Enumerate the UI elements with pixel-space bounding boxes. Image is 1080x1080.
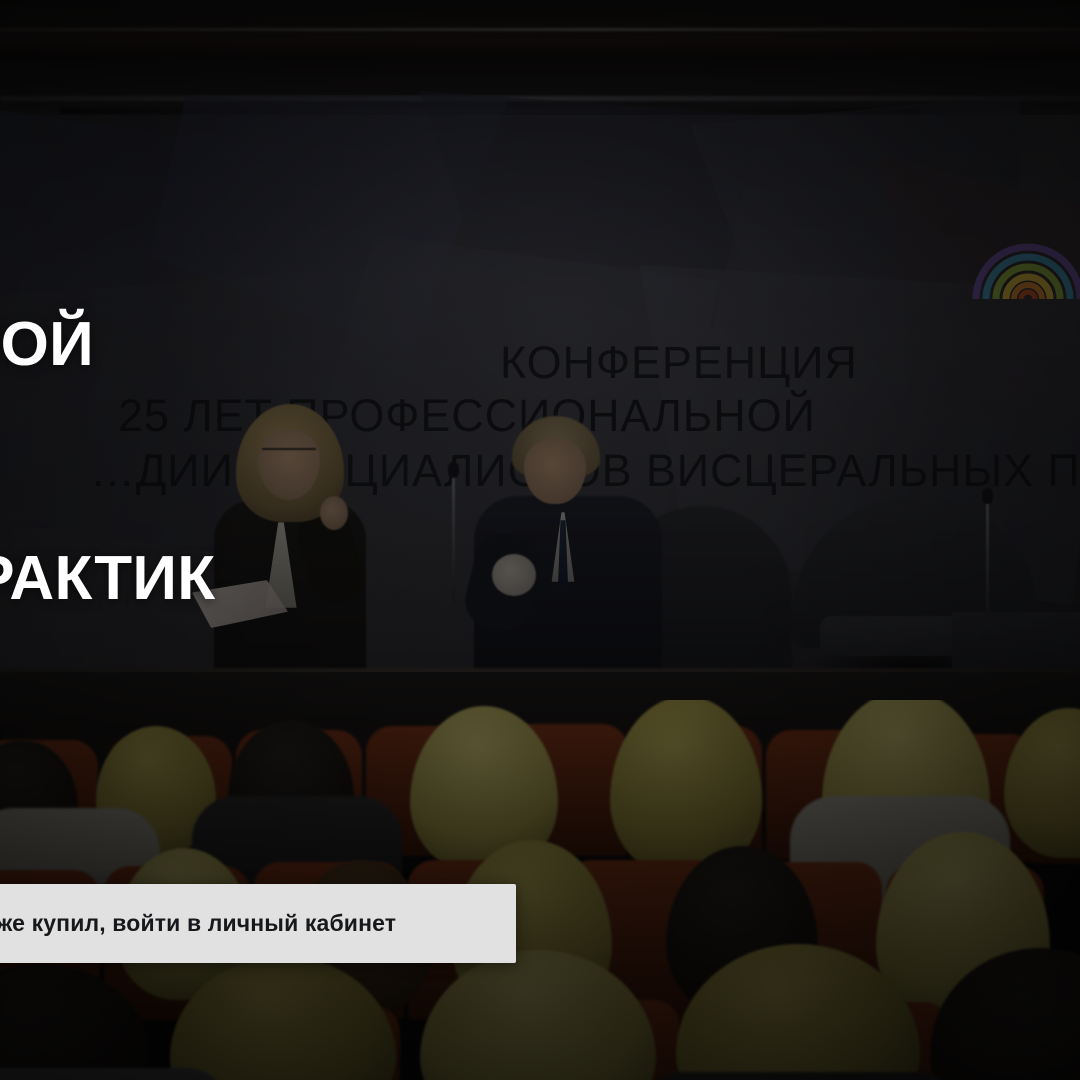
login-to-account-button[interactable]: Уже купил, войти в личный кабинет (0, 884, 516, 963)
hero-content: …ССИОНАЛЬНОЙ …МАЦИИ …АЛИСТОВ …РАЛЬНЫХ ПР… (0, 0, 1080, 1080)
headline-line-4: …РАЛЬНЫХ ПРАКТИК (0, 540, 1080, 618)
hero-subtitle: …вух дней конференции. (0, 706, 744, 746)
login-to-account-label: Уже купил, войти в личный кабинет (0, 910, 396, 937)
page-title: …ССИОНАЛЬНОЙ …МАЦИИ …АЛИСТОВ …РАЛЬНЫХ ПР… (0, 306, 1080, 618)
headline-line-3: …АЛИСТОВ (0, 462, 1080, 540)
headline-line-1: …ССИОНАЛЬНОЙ (0, 306, 1080, 384)
landing-page-hero: КОНФЕРЕНЦИЯ 25 ЛЕТ ПРОФЕССИОНАЛЬНОЙ …ДИИ… (0, 0, 1080, 1080)
headline-line-2: …МАЦИИ (0, 384, 1080, 462)
